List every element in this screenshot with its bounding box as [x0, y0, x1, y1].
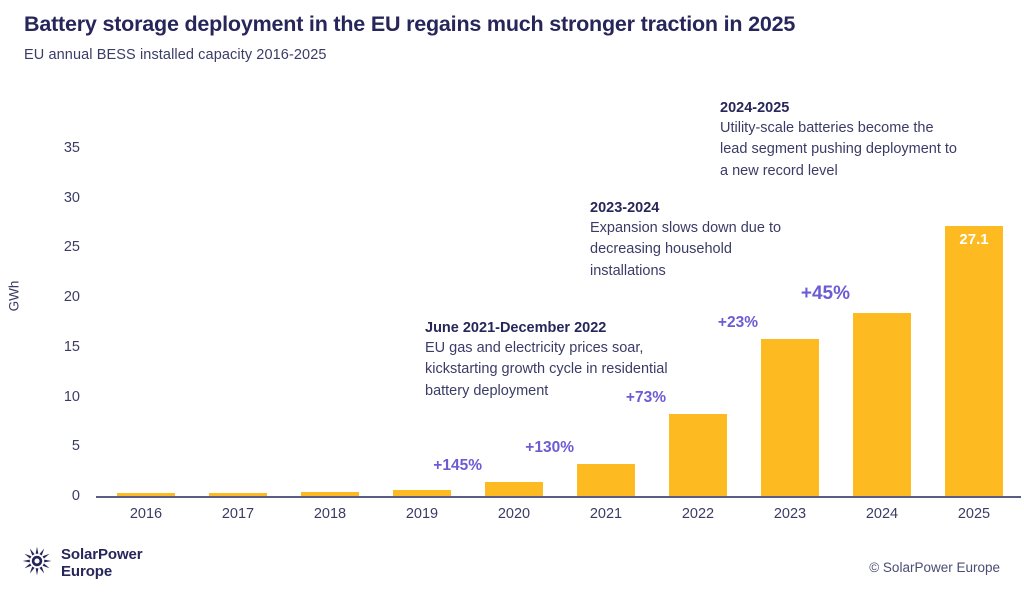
y-tick-label: 10 — [36, 389, 80, 405]
bar-value-label: 27.1 — [945, 231, 1003, 248]
logo-line-2: Europe — [61, 563, 112, 580]
bar-slot — [100, 100, 192, 496]
bar-slot — [192, 100, 284, 496]
bar-slot — [284, 100, 376, 496]
y-tick-label: 0 — [36, 488, 80, 504]
annotation-block-3: 2024-2025 Utility-scale batteries become… — [720, 100, 960, 182]
logo-line-1: SolarPower — [61, 546, 143, 563]
annotation-title: 2024-2025 — [720, 100, 960, 116]
bar-2024[interactable] — [853, 313, 911, 496]
annotation-title: June 2021-December 2022 — [425, 320, 680, 336]
y-tick-label: 30 — [36, 190, 80, 206]
copyright-notice: © SolarPower Europe — [869, 560, 1000, 575]
annotation-block-2: 2023-2024 Expansion slows down due to de… — [590, 200, 810, 282]
x-tick-label: 2024 — [836, 506, 928, 522]
logo-wordmark: SolarPower Europe — [61, 547, 143, 579]
x-tick-label: 2022 — [652, 506, 744, 522]
bar-slot — [560, 100, 652, 496]
annotation-body: Expansion slows down due to decreasing h… — [590, 218, 810, 282]
y-tick-label: 5 — [36, 438, 80, 454]
bar-2025[interactable]: 27.1 — [945, 226, 1003, 496]
y-axis-title: GWh — [7, 281, 22, 312]
growth-label-2021: +130% — [525, 439, 574, 457]
x-tick-label: 2016 — [100, 506, 192, 522]
x-tick-label: 2025 — [928, 506, 1020, 522]
y-tick-label: 15 — [36, 339, 80, 355]
x-tick-label: 2020 — [468, 506, 560, 522]
bar-2020[interactable] — [485, 482, 543, 496]
growth-label-2023: +23% — [718, 314, 758, 332]
sunburst-icon — [22, 546, 52, 581]
bar-chart: GWh 05101520253035 27.1 June 2021-Decemb… — [0, 0, 1024, 597]
x-tick-label: 2017 — [192, 506, 284, 522]
solarpower-europe-logo: SolarPower Europe — [22, 546, 143, 581]
bar-slot — [468, 100, 560, 496]
annotation-title: 2023-2024 — [590, 200, 810, 216]
bar-2019[interactable] — [393, 490, 451, 496]
bar-2021[interactable] — [577, 464, 635, 496]
x-tick-label: 2023 — [744, 506, 836, 522]
y-tick-label: 35 — [36, 140, 80, 156]
bar-2017[interactable] — [209, 493, 267, 496]
bar-2022[interactable] — [669, 414, 727, 496]
y-tick-label: 25 — [36, 239, 80, 255]
x-tick-label: 2019 — [376, 506, 468, 522]
growth-label-2024: +45% — [801, 283, 850, 305]
bar-2016[interactable] — [117, 493, 175, 496]
annotation-body: Utility-scale batteries become the lead … — [720, 118, 960, 182]
bar-2018[interactable] — [301, 492, 359, 496]
bar-slot — [376, 100, 468, 496]
growth-label-2020: +145% — [433, 457, 482, 475]
x-tick-label: 2018 — [284, 506, 376, 522]
y-axis-tick-labels: 05101520253035 — [28, 0, 80, 597]
growth-label-2022: +73% — [626, 389, 666, 407]
x-axis-line — [96, 496, 1021, 498]
y-tick-label: 20 — [36, 289, 80, 305]
bar-2023[interactable] — [761, 339, 819, 496]
x-tick-label: 2021 — [560, 506, 652, 522]
